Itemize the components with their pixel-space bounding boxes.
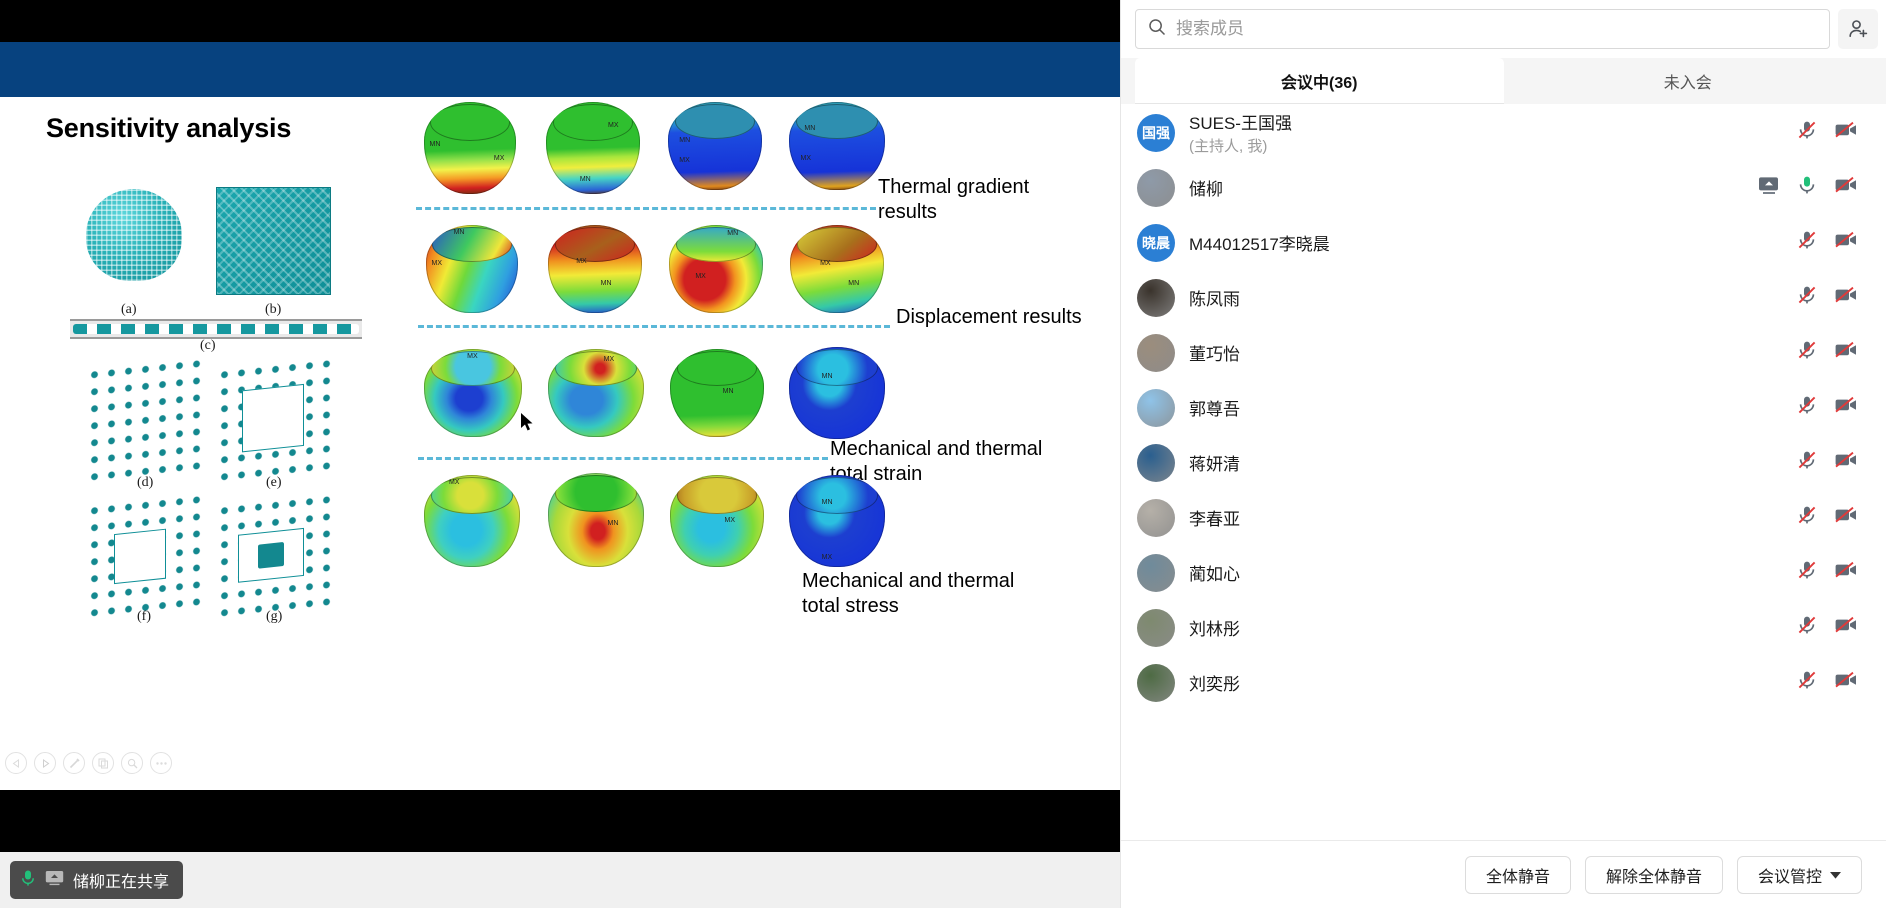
row-divider [416,207,876,210]
figure-g-grid [214,489,334,624]
figure-c-strip [70,319,362,339]
sharing-label: 储柳正在共享 [73,868,169,892]
figure-label-d: (d) [137,475,153,491]
participant-name: 蒋妍清 [1189,450,1782,475]
participant-name: M44012517李晓晨 [1189,230,1782,255]
avatar [1137,334,1175,372]
meeting-control-label: 会议管控 [1758,863,1822,887]
microphone-muted-icon[interactable] [1796,119,1818,146]
annotation-thermal-gradient: Thermal gradient results [878,175,1078,225]
next-button[interactable] [34,752,56,774]
camera-off-icon[interactable] [1834,395,1858,420]
figure-label-g: (g) [266,609,282,625]
participant-name-wrap: SUES-王国强(主持人, 我) [1189,109,1782,156]
participant-name-wrap: 蔺如心 [1189,560,1782,585]
ellipsis-icon[interactable] [150,752,172,774]
participant-status-icons [1796,504,1858,531]
participant-name-wrap: 蒋妍清 [1189,450,1782,475]
search-box[interactable] [1135,9,1830,49]
result-blob: MN MX [426,225,518,313]
meeting-screen: Sensitivity analysis (a) (b) (c) (d) [0,0,1886,908]
camera-off-icon[interactable] [1834,615,1858,640]
result-blob: MN [548,473,644,567]
result-blob: MN MX [789,475,885,567]
microphone-icon [20,869,36,892]
remote-black-bar-top [0,0,1120,42]
microphone-muted-icon[interactable] [1796,559,1818,586]
panel-footer: 全体静音 解除全体静音 会议管控 [1121,840,1886,908]
result-blob: MX [424,475,520,567]
camera-off-icon[interactable] [1834,670,1858,695]
figure-label-c: (c) [200,338,216,354]
avatar [1137,609,1175,647]
avatar [1137,169,1175,207]
result-blob: MX MN [546,102,640,194]
tab-in-meeting[interactable]: 会议中(36) [1135,58,1504,104]
sharing-indicator[interactable]: 储柳正在共享 [10,861,183,899]
participant-row[interactable]: 董巧怡 [1121,325,1886,380]
participant-name: SUES-王国强 [1189,109,1782,134]
participant-row[interactable]: 郭尊吾 [1121,380,1886,435]
participant-name-wrap: 董巧怡 [1189,340,1782,365]
mouse-cursor [521,413,534,437]
camera-off-icon[interactable] [1834,230,1858,255]
participant-name-wrap: 郭尊吾 [1189,395,1782,420]
figure-label-a: (a) [121,302,137,318]
panel-search-row [1121,0,1886,58]
figure-e-grid [214,353,334,486]
prev-button[interactable] [5,752,27,774]
unmute-all-button[interactable]: 解除全体静音 [1585,856,1723,894]
participant-row[interactable]: 晓晨M44012517李晓晨 [1121,215,1886,270]
participant-status-icons [1796,339,1858,366]
figure-b-plate [216,187,331,295]
result-blob: MX [548,349,644,437]
participant-status-icons [1796,284,1858,311]
camera-off-icon[interactable] [1834,175,1858,200]
participant-name-wrap: M44012517李晓晨 [1189,230,1782,255]
avatar: 国强 [1137,114,1175,152]
participant-status-icons [1796,119,1858,146]
camera-off-icon[interactable] [1834,505,1858,530]
figure-label-b: (b) [265,302,281,318]
participant-status-icons [1758,174,1858,201]
result-blob: MN MX [669,225,763,313]
microphone-muted-icon[interactable] [1796,284,1818,311]
avatar [1137,554,1175,592]
result-blob: MN MX [789,102,885,190]
meeting-control-button[interactable]: 会议管控 [1737,856,1862,894]
presentation-slide: Sensitivity analysis (a) (b) (c) (d) [0,97,1120,790]
figure-d-grid [84,353,204,486]
participant-name: 郭尊吾 [1189,395,1782,420]
pen-icon[interactable] [63,752,85,774]
avatar [1137,664,1175,702]
avatar [1137,389,1175,427]
microphone-muted-icon[interactable] [1796,614,1818,641]
participant-row[interactable]: 刘奕彤 [1121,655,1886,710]
participant-name: 李春亚 [1189,505,1782,530]
camera-off-icon[interactable] [1834,340,1858,365]
participant-status-icons [1796,229,1858,256]
screen-share-icon [1758,176,1780,200]
participant-name-wrap: 储柳 [1189,175,1744,200]
result-blob: MX [670,475,764,567]
microphone-muted-icon[interactable] [1796,669,1818,696]
chevron-down-icon [1830,866,1841,884]
screen-share-icon [45,870,64,891]
figure-a-dome [86,189,182,281]
result-blob: MN [789,347,885,439]
participant-name-wrap: 刘奕彤 [1189,670,1782,695]
microphone-muted-icon[interactable] [1796,504,1818,531]
participant-row[interactable]: 蔺如心 [1121,545,1886,600]
participant-name-wrap: 李春亚 [1189,505,1782,530]
participant-status-icons [1796,669,1858,696]
participant-row[interactable]: 储柳 [1121,160,1886,215]
row-divider [418,457,828,460]
avatar [1137,279,1175,317]
participant-name: 蔺如心 [1189,560,1782,585]
remote-black-bar-bottom [0,790,1120,852]
camera-off-icon[interactable] [1834,560,1858,585]
avatar: 晓晨 [1137,224,1175,262]
search-icon [1148,18,1166,41]
camera-off-icon[interactable] [1834,285,1858,310]
result-blob: MN MX [424,102,516,194]
participant-name: 刘林彤 [1189,615,1782,640]
shared-screen-region[interactable]: Sensitivity analysis (a) (b) (c) (d) [0,0,1120,908]
participant-row[interactable]: 刘林彤 [1121,600,1886,655]
participant-row[interactable]: 李春亚 [1121,490,1886,545]
microphone-muted-icon[interactable] [1796,229,1818,256]
figure-label-f: (f) [137,609,151,625]
result-blob: MX MN [790,225,884,313]
participant-role: (主持人, 我) [1189,135,1782,156]
mute-all-button[interactable]: 全体静音 [1465,856,1571,894]
result-blob: MN [670,349,764,437]
result-blob: MX [424,349,522,437]
result-blob: MX MN [548,225,642,313]
participant-name: 储柳 [1189,175,1744,200]
microphone-muted-icon[interactable] [1796,394,1818,421]
avatar [1137,499,1175,537]
participant-status-icons [1796,449,1858,476]
participant-name-wrap: 刘林彤 [1189,615,1782,640]
annotation-toolbar[interactable] [5,752,172,774]
participant-name: 董巧怡 [1189,340,1782,365]
participant-row[interactable]: 国强SUES-王国强(主持人, 我) [1121,105,1886,160]
microphone-muted-icon[interactable] [1796,339,1818,366]
figure-f-grid [84,489,204,624]
search-input[interactable] [1176,19,1817,39]
magnifier-icon[interactable] [121,752,143,774]
camera-off-icon[interactable] [1834,450,1858,475]
participants-panel: 会议中(36) 未入会 国强SUES-王国强(主持人, 我)储柳晓晨M44012… [1120,0,1886,908]
remote-blue-titlebar [0,42,1120,97]
participant-status-icons [1796,614,1858,641]
copy-icon[interactable] [92,752,114,774]
annotation-total-strain: Mechanical and thermal total strain [830,437,1080,487]
figure-label-e: (e) [266,475,282,491]
participant-row[interactable]: 陈凤雨 [1121,270,1886,325]
participant-name: 陈凤雨 [1189,285,1782,310]
row-divider [418,325,890,328]
camera-off-icon[interactable] [1834,120,1858,145]
annotation-total-stress: Mechanical and thermal total stress [802,569,1050,619]
result-blob: MN MX [668,102,762,190]
participant-name-wrap: 陈凤雨 [1189,285,1782,310]
microphone-on-icon[interactable] [1796,174,1818,201]
participant-row[interactable]: 蒋妍清 [1121,435,1886,490]
avatar [1137,444,1175,482]
participant-status-icons [1796,394,1858,421]
tab-not-joined[interactable]: 未入会 [1504,58,1873,104]
participant-name: 刘奕彤 [1189,670,1782,695]
panel-tabs[interactable]: 会议中(36) 未入会 [1121,58,1886,104]
page-title: Sensitivity analysis [46,113,291,144]
participant-status-icons [1796,559,1858,586]
add-person-icon[interactable] [1838,9,1878,49]
annotation-displacement: Displacement results [896,305,1116,330]
participant-list[interactable]: 国强SUES-王国强(主持人, 我)储柳晓晨M44012517李晓晨陈凤雨董巧怡… [1121,104,1886,840]
microphone-muted-icon[interactable] [1796,449,1818,476]
